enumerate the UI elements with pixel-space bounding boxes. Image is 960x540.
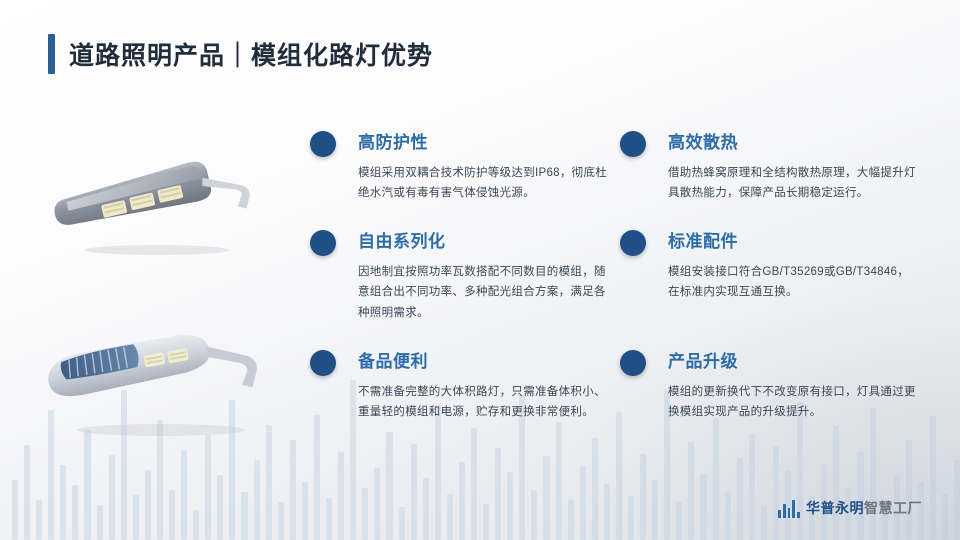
feature-item-3: 自由系列化 因地制宜按照功率瓦数搭配不同数目的模组，随意组合出不同功率、多种配光… (310, 227, 620, 322)
title-accent-bar (48, 34, 55, 74)
bullet-dot-icon (310, 131, 336, 157)
feature-body: 借助热蜂窝原理和全结构散热原理，大幅提升灯具散热能力，保障产品长期稳定运行。 (668, 163, 918, 203)
bullet-dot-icon (620, 350, 646, 376)
feature-item-6: 产品升级 模组的更新换代下不改变原有接口，灯具通过更换模组实现产品的升级提升。 (620, 347, 930, 422)
feature-body: 模组采用双耦合技术防护等级达到IP68，彻底杜绝水汽或有毒有害气体侵蚀光源。 (358, 163, 608, 203)
feature-item-4: 标准配件 模组安装接口符合GB/T35269或GB/T34846，在标准内实现互… (620, 227, 930, 322)
feature-title: 产品升级 (668, 347, 930, 372)
slide: 道路照明产品｜模组化路灯优势 (0, 0, 960, 540)
page-title: 道路照明产品｜模组化路灯优势 (48, 34, 433, 74)
bullet-dot-icon (310, 350, 336, 376)
bullet-dot-icon (620, 230, 646, 256)
feature-body: 模组的更新换代下不改变原有接口，灯具通过更换模组实现产品的升级提升。 (668, 382, 918, 422)
feature-body: 因地制宜按照功率瓦数搭配不同数目的模组，随意组合出不同功率、多种配光组合方案，满… (358, 262, 608, 322)
feature-title: 标准配件 (668, 227, 930, 252)
logo-mark-icon (778, 498, 800, 518)
streetlight-image-top (45, 150, 260, 260)
feature-item-5: 备品便利 不需准备完整的大体积路灯，只需准备体积小、重量轻的模组和电源，贮存和更… (310, 347, 620, 422)
feature-body: 模组安装接口符合GB/T35269或GB/T34846，在标准内实现互通互换。 (668, 262, 918, 302)
feature-item-1: 高防护性 模组采用双耦合技术防护等级达到IP68，彻底杜绝水汽或有毒有害气体侵蚀… (310, 128, 620, 203)
feature-body: 不需准备完整的大体积路灯，只需准备体积小、重量轻的模组和电源，贮存和更换非常便利… (358, 382, 608, 422)
logo-text: 华普永明智慧工厂 (806, 498, 922, 518)
feature-grid: 高防护性 模组采用双耦合技术防护等级达到IP68，彻底杜绝水汽或有毒有害气体侵蚀… (310, 128, 930, 422)
logo-brand: 华普永明 (806, 500, 864, 516)
feature-item-2: 高效散热 借助热蜂窝原理和全结构散热原理，大幅提升灯具散热能力，保障产品长期稳定… (620, 128, 930, 203)
brand-logo: 华普永明智慧工厂 (778, 498, 922, 518)
feature-title: 备品便利 (358, 347, 620, 372)
logo-suffix: 智慧工厂 (864, 500, 922, 516)
title-text: 道路照明产品｜模组化路灯优势 (69, 36, 433, 72)
feature-title: 高防护性 (358, 128, 620, 153)
bullet-dot-icon (310, 230, 336, 256)
feature-title: 自由系列化 (358, 227, 620, 252)
bullet-dot-icon (620, 131, 646, 157)
feature-title: 高效散热 (668, 128, 930, 153)
streetlight-image-bottom (35, 320, 280, 440)
